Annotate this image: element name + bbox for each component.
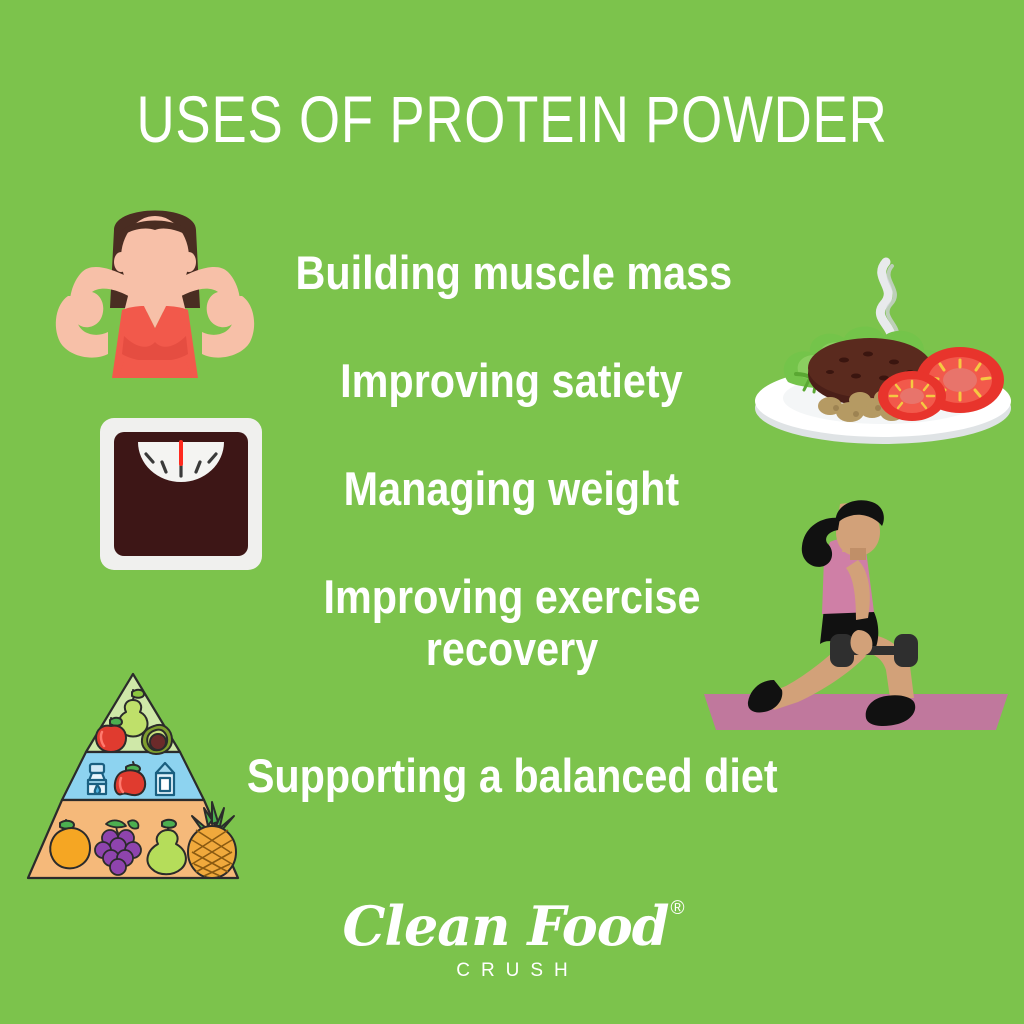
brand-logo: Clean Food® CRUSH (0, 893, 1024, 982)
logo-script-text: Clean Food (342, 894, 668, 958)
infographic-poster: USES OF PROTEIN POWDER Building muscle m… (0, 0, 1024, 1024)
page-title: USES OF PROTEIN POWDER (102, 84, 921, 154)
logo-subtitle: CRUSH (0, 960, 1024, 982)
bathroom-scale-illustration (98, 416, 264, 572)
logo-wordmark: Clean Food® (342, 893, 681, 954)
food-pyramid-illustration (22, 668, 244, 886)
flexing-woman-illustration (52, 196, 258, 378)
benefit-line-1: Improving exercise (323, 570, 700, 623)
lunging-woman-illustration (690, 498, 1014, 738)
plate-of-food-illustration (752, 248, 1014, 448)
registered-trademark-icon: ® (671, 898, 684, 919)
